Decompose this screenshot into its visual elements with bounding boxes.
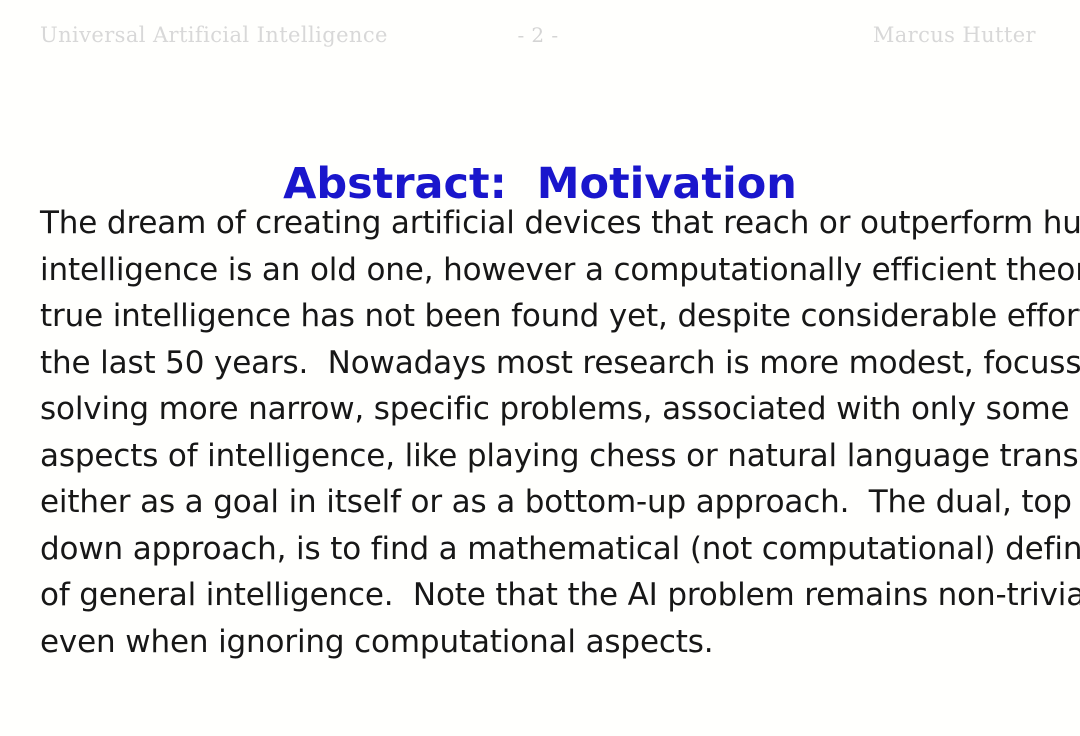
body-line: intelligence is an old one, however a co… bbox=[40, 247, 1044, 294]
presentation-slide: Universal Artificial Intelligence - 2 - … bbox=[0, 0, 1080, 736]
body-line: either as a goal in itself or as a botto… bbox=[40, 479, 1044, 526]
body-line: solving more narrow, specific problems, … bbox=[40, 386, 1044, 433]
slide-body-text: The dream of creating artificial devices… bbox=[40, 200, 1044, 665]
body-line: aspects of intelligence, like playing ch… bbox=[40, 433, 1044, 480]
body-line: of general intelligence. Note that the A… bbox=[40, 572, 1044, 619]
header-page-number: - 2 - bbox=[40, 22, 1036, 48]
slide-running-header: Universal Artificial Intelligence - 2 - … bbox=[40, 22, 1036, 48]
body-line: even when ignoring computational aspects… bbox=[40, 619, 1044, 666]
body-line: true intelligence has not been found yet… bbox=[40, 293, 1044, 340]
body-line: the last 50 years. Nowadays most researc… bbox=[40, 340, 1044, 387]
body-line: down approach, is to find a mathematical… bbox=[40, 526, 1044, 573]
body-line: The dream of creating artificial devices… bbox=[40, 200, 1044, 247]
